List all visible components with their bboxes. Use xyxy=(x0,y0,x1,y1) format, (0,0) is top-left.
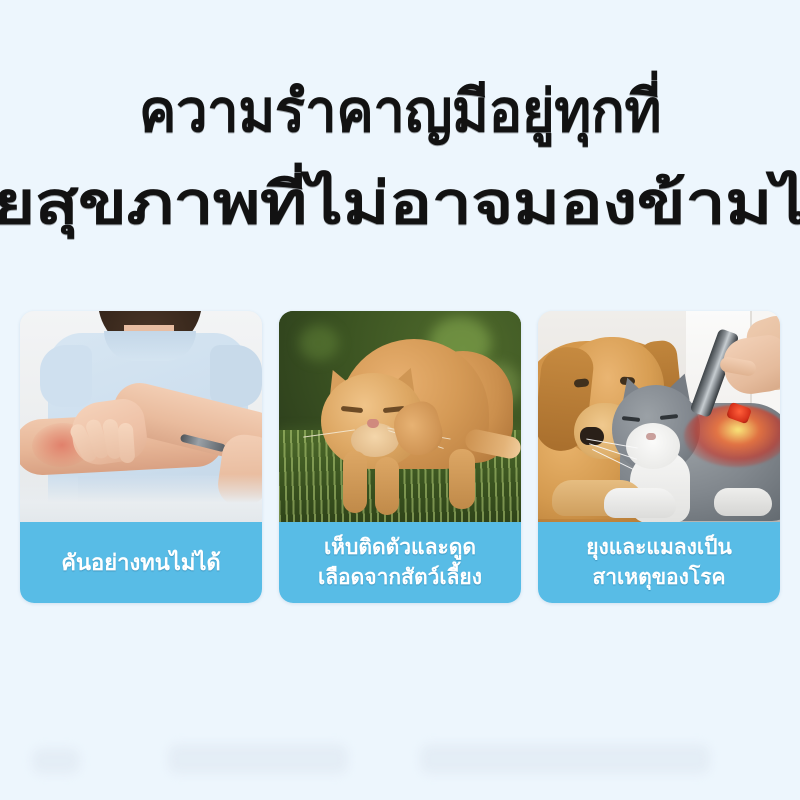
caption-line-1: คันอย่างทนไม่ได้ xyxy=(61,548,220,578)
background-artifact xyxy=(32,748,80,774)
cat-front-leg xyxy=(375,457,399,515)
cat-nose xyxy=(646,433,656,440)
cat-hind-leg xyxy=(449,449,475,509)
cat-front-leg xyxy=(343,451,367,513)
cat-paw xyxy=(604,488,676,518)
feature-card-itch[interactable]: คันอย่างทนไม่ได้ xyxy=(20,311,262,603)
finger xyxy=(118,423,136,464)
caption-line-1: ยุงและแมลงเป็น xyxy=(586,533,732,563)
headline-line-2: ภัยสุขภาพที่ไม่อาจมองข้ามได้ xyxy=(0,166,800,242)
cat-hind-paw xyxy=(714,488,772,516)
dog-and-cat-red-light-device-photo xyxy=(538,311,780,522)
page-headline: ความรำคาญมีอยู่ทุกที่ ภัยสุขภาพที่ไม่อาจ… xyxy=(0,74,800,242)
caption-banner-ticks: เห็บติดตัวและดูด เลือดจากสัตว์เลี้ยง xyxy=(279,522,521,603)
bokeh-light xyxy=(299,325,339,361)
ginger-cat-scratching-on-grass-photo xyxy=(279,311,521,522)
woman-scratching-itchy-arm-photo xyxy=(20,311,262,522)
dog-nose xyxy=(580,427,604,445)
caption-line-1: เห็บติดตัวและดูด xyxy=(324,533,476,563)
caption-banner-mosquitoes: ยุงและแมลงเป็น สาเหตุของโรค xyxy=(538,522,780,603)
feature-card-mosquitoes[interactable]: ยุงและแมลงเป็น สาเหตุของโรค xyxy=(538,311,780,603)
caption-line-2: เลือดจากสัตว์เลี้ยง xyxy=(318,563,482,593)
cat-nose xyxy=(367,419,379,428)
background-artifact xyxy=(420,744,710,774)
feature-card-ticks[interactable]: เห็บติดตัวและดูด เลือดจากสัตว์เลี้ยง xyxy=(279,311,521,603)
photo-foreground-fade xyxy=(20,474,262,522)
feature-card-row: คันอย่างทนไม่ได้ xyxy=(20,311,780,603)
caption-line-2: สาเหตุของโรค xyxy=(592,563,725,593)
shoulder-left xyxy=(40,345,92,407)
headline-line-1: ความรำคาญมีอยู่ทุกที่ xyxy=(12,74,788,150)
caption-banner-itch: คันอย่างทนไม่ได้ xyxy=(20,522,262,603)
background-artifact xyxy=(168,744,348,774)
shoulder-right xyxy=(210,345,262,407)
